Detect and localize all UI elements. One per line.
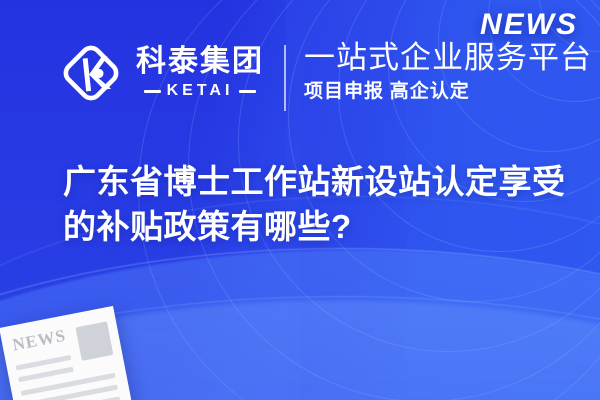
tagline-block: 一站式企业服务平台 项目申报 高企认定 bbox=[304, 40, 592, 103]
newspaper-masthead: NEWS bbox=[11, 326, 68, 356]
news-badge: NEWS bbox=[480, 8, 578, 42]
header-divider bbox=[284, 45, 286, 111]
brand-name-en-row: KETAI bbox=[144, 83, 257, 99]
brand-logo[interactable]: 科泰集团 KETAI bbox=[58, 40, 264, 106]
brand-wordmark: 科泰集团 KETAI bbox=[136, 47, 264, 99]
dash-left-icon bbox=[144, 90, 161, 93]
banner-header: 科泰集团 KETAI 一站式企业服务平台 项目申报 高企认定 NEWS bbox=[0, 0, 600, 140]
newspaper-text-line bbox=[18, 367, 74, 383]
tagline-sub: 项目申报 高企认定 bbox=[304, 81, 592, 104]
ketai-kp-monogram-icon bbox=[58, 40, 124, 106]
newspaper-image-block bbox=[75, 321, 113, 360]
tagline-main: 一站式企业服务平台 bbox=[304, 40, 592, 77]
brand-name-en: KETAI bbox=[167, 83, 234, 99]
dash-right-icon bbox=[239, 90, 256, 93]
news-banner: 科泰集团 KETAI 一站式企业服务平台 项目申报 高企认定 NEWS 广东省博… bbox=[0, 0, 600, 400]
brand-name-cn: 科泰集团 bbox=[136, 47, 264, 77]
page-title: 广东省博士工作站新设站认定享受的补贴政策有哪些? bbox=[63, 160, 573, 249]
